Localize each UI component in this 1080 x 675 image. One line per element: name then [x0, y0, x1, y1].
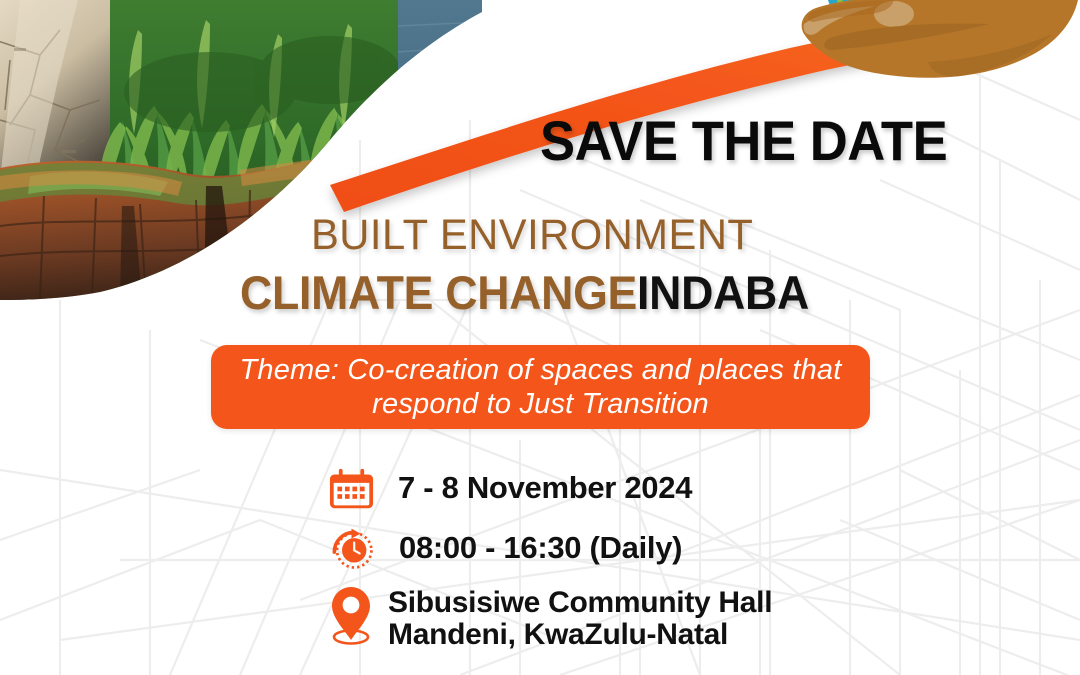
detail-venue-text: Sibusisiwe Community Hall Mandeni, KwaZu…: [377, 581, 772, 652]
event-details: 7 - 8 November 2024: [325, 457, 772, 651]
venue-line-1: Sibusisiwe Community Hall: [388, 587, 772, 619]
detail-date-text: 7 - 8 November 2024: [377, 471, 692, 504]
venue-line-2: Mandeni, KwaZulu-Natal: [388, 619, 772, 651]
location-pin-icon: [325, 581, 377, 649]
subtitle-built-environment: BUILT ENVIRONMENT: [311, 214, 753, 257]
detail-row-time: 08:00 - 16:30 (Daily): [325, 519, 772, 577]
subtitle-indaba: INDABA: [637, 266, 809, 319]
clock-icon: [325, 525, 377, 572]
page-title: SAVE THE DATE: [540, 113, 947, 169]
theme-line-1: Theme: Co-creation of spaces and places: [239, 354, 784, 386]
detail-time-text: 08:00 - 16:30 (Daily): [377, 531, 682, 564]
theme-banner: Theme: Co-creation of spaces and places …: [211, 345, 870, 429]
save-the-date-poster: SAVE THE DATE BUILT ENVIRONMENT CLIMATE …: [0, 0, 1080, 675]
subtitle-climate-change: CLIMATE CHANGE: [240, 266, 637, 319]
subtitle-climate-change-indaba: CLIMATE CHANGEINDABA: [240, 269, 809, 316]
theme-text: Theme: Co-creation of spaces and places …: [227, 353, 854, 421]
detail-row-date: 7 - 8 November 2024: [325, 457, 772, 519]
calendar-icon: [325, 466, 377, 511]
detail-row-venue: Sibusisiwe Community Hall Mandeni, KwaZu…: [325, 577, 772, 651]
